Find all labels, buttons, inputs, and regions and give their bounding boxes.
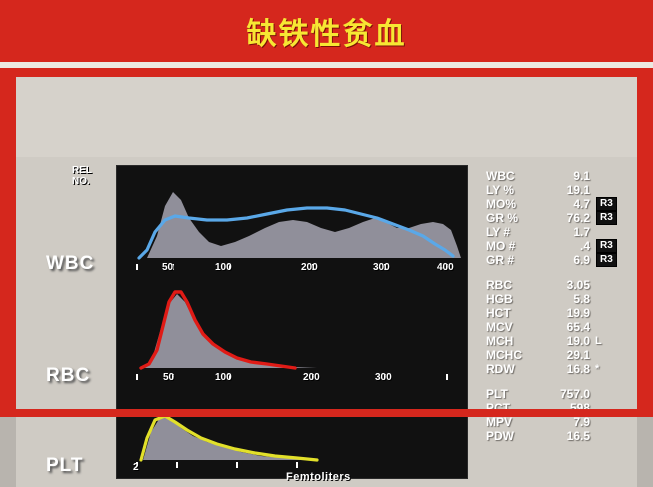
rel-no-line2: NO. xyxy=(72,176,116,187)
result-value: 19.0 xyxy=(542,334,590,348)
result-name: GR % xyxy=(486,211,542,225)
result-name: GR # xyxy=(486,253,542,267)
result-flag: * xyxy=(590,363,611,375)
result-name: MPV xyxy=(486,415,542,429)
result-name: MCH xyxy=(486,334,542,348)
results-group-rbc: RBC 3.05 HGB 5.8 HCT 19.9 xyxy=(486,278,651,376)
result-row: MCH 19.0 L xyxy=(486,334,651,348)
result-region-badge: R3 xyxy=(596,211,617,225)
frame-right-red xyxy=(637,77,653,417)
rbc-tick-50: 50 xyxy=(163,372,174,383)
result-name: PDW xyxy=(486,429,542,443)
wbc-tick-labels: 50 100 200 300 400 xyxy=(117,262,467,276)
result-flag: L xyxy=(590,335,611,347)
banner-divider-red xyxy=(0,68,653,77)
row-label-rbc: RBC xyxy=(46,365,90,387)
result-row: PLT 757.0 xyxy=(486,387,651,401)
result-name: WBC xyxy=(486,169,542,183)
result-region-badge: R3 xyxy=(596,253,617,267)
result-row: RBC 3.05 xyxy=(486,278,651,292)
plt-tick-2: 2 xyxy=(133,462,139,473)
wbc-plot-svg xyxy=(117,166,467,276)
row-label-wbc: WBC xyxy=(46,253,94,275)
result-name: RBC xyxy=(486,278,542,292)
result-name: RDW xyxy=(486,362,542,376)
result-row: GR % 76.2 R3 xyxy=(486,211,651,225)
result-value: 29.1 xyxy=(542,348,590,362)
plt-histogram-shape xyxy=(143,416,307,460)
result-value: 16.5 xyxy=(542,429,590,443)
result-row: MPV 7.9 xyxy=(486,415,651,429)
result-row: MCV 65.4 xyxy=(486,320,651,334)
rbc-tick-100: 100 xyxy=(215,372,232,383)
histogram-panel-group: 50 100 200 300 400 xyxy=(116,165,468,479)
x-axis-label: Femtoliters xyxy=(286,471,351,483)
result-value: 3.05 xyxy=(542,278,590,292)
title-banner-inner: 缺铁性贫血 xyxy=(0,0,653,62)
rel-no-caption: REL NO. xyxy=(72,165,116,187)
result-row: MO # .4 R3 xyxy=(486,239,651,253)
wbc-histogram-shape xyxy=(137,192,461,258)
report-body: REL NO. WBC RBC PLT xyxy=(0,77,653,417)
result-row: WBC 9.1 xyxy=(486,169,651,183)
result-name: HGB xyxy=(486,292,542,306)
result-value: 65.4 xyxy=(542,320,590,334)
result-row: PDW 16.5 xyxy=(486,429,651,443)
result-name: PLT xyxy=(486,387,542,401)
result-name: HCT xyxy=(486,306,542,320)
wbc-tick-200: 200 xyxy=(301,262,318,273)
wbc-histogram-panel: 50 100 200 300 400 xyxy=(117,166,467,276)
results-group-wbc: WBC 9.1 LY % 19.1 MO% 4.7 R3 xyxy=(486,169,651,267)
result-row: LY % 19.1 xyxy=(486,183,651,197)
result-value: 5.8 xyxy=(542,292,590,306)
result-row: LY # 1.7 xyxy=(486,225,651,239)
result-name: MO% xyxy=(486,197,542,211)
result-name: MCV xyxy=(486,320,542,334)
result-name: LY % xyxy=(486,183,542,197)
result-value: 1.7 xyxy=(542,225,590,239)
result-value: 16.8 xyxy=(542,362,590,376)
result-name: LY # xyxy=(486,225,542,239)
title-banner: 缺铁性贫血 xyxy=(0,0,653,62)
result-value: 76.2 xyxy=(542,211,590,225)
rbc-histogram-panel: 50 100 200 300 xyxy=(117,276,467,386)
plt-histogram-panel: 2 xyxy=(117,386,467,478)
result-name: MCHC xyxy=(486,348,542,362)
result-value: 6.9 xyxy=(542,253,590,267)
rbc-tick-labels: 50 100 200 300 xyxy=(117,372,467,386)
rbc-histogram-shape xyxy=(145,294,345,368)
wbc-tick-400: 400 xyxy=(437,262,454,273)
result-name: MO # xyxy=(486,239,542,253)
rel-no-line1: REL xyxy=(72,165,116,176)
result-value: 9.1 xyxy=(542,169,590,183)
wbc-tick-300: 300 xyxy=(373,262,390,273)
result-value: .4 xyxy=(542,239,590,253)
result-value: 757.0 xyxy=(542,387,590,401)
result-value: 19.1 xyxy=(542,183,590,197)
result-value: 4.7 xyxy=(542,197,590,211)
report-paper: REL NO. WBC RBC PLT xyxy=(16,157,637,487)
wbc-tick-100: 100 xyxy=(215,262,232,273)
result-row: MO% 4.7 R3 xyxy=(486,197,651,211)
frame-left-red xyxy=(0,77,16,417)
rbc-tick-300: 300 xyxy=(375,372,392,383)
result-value: 7.9 xyxy=(542,415,590,429)
result-region-badge: R3 xyxy=(596,197,617,211)
frame-bottom-red xyxy=(0,409,653,417)
row-label-plt: PLT xyxy=(46,455,83,477)
result-row: RDW 16.8 * xyxy=(486,362,651,376)
rbc-plot-svg xyxy=(117,276,467,386)
rbc-tick-200: 200 xyxy=(303,372,320,383)
page-title: 缺铁性贫血 xyxy=(247,9,407,53)
result-row: GR # 6.9 R3 xyxy=(486,253,651,267)
screenshot-root: 缺铁性贫血 REL NO. WBC RBC PLT xyxy=(0,0,653,417)
result-row: HGB 5.8 xyxy=(486,292,651,306)
result-row: HCT 19.9 xyxy=(486,306,651,320)
wbc-tick-50: 50 xyxy=(162,262,173,273)
result-region-badge: R3 xyxy=(596,239,617,253)
result-value: 19.9 xyxy=(542,306,590,320)
result-row: MCHC 29.1 xyxy=(486,348,651,362)
